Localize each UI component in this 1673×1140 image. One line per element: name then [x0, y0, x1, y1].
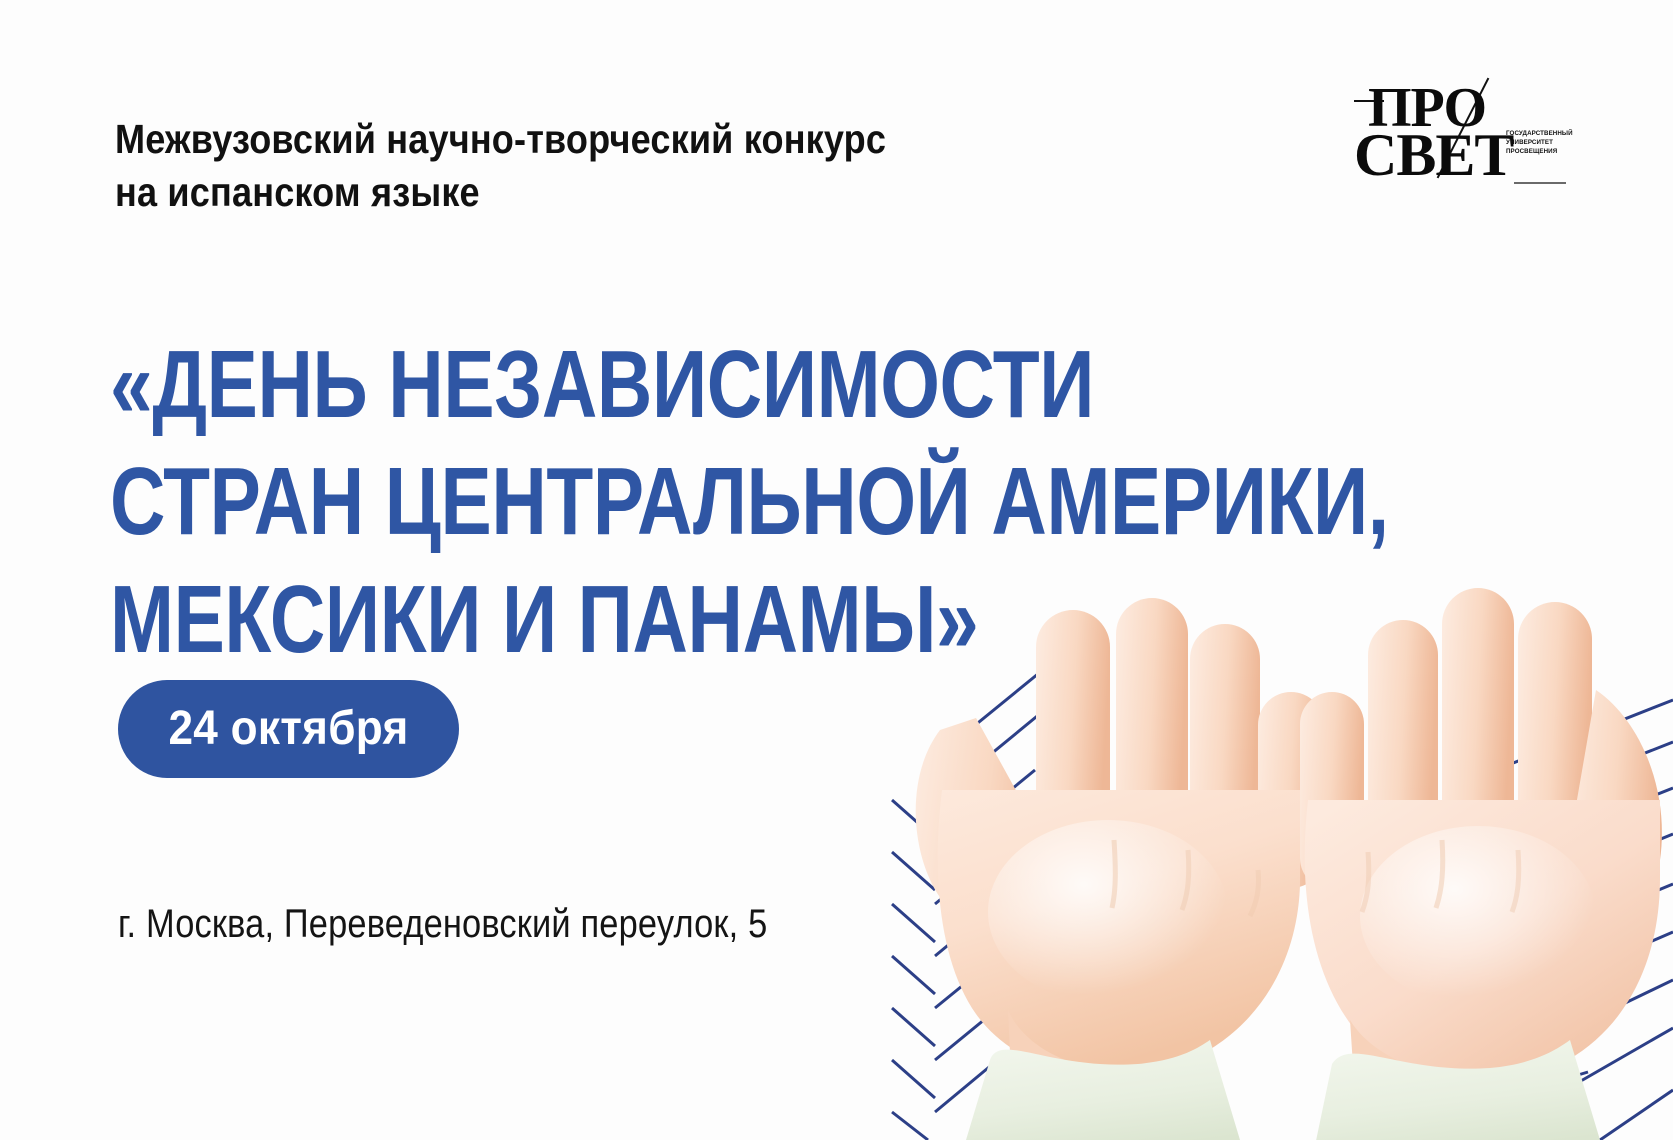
event-address: г. Москва, Переведеновский переулок, 5 — [118, 900, 767, 948]
prosvet-logo: ПРО СВЕТ Государственный университет про… — [1354, 78, 1569, 200]
logo-subtitle-line-1: Государственный — [1506, 130, 1570, 139]
logo-rule-right — [1514, 182, 1566, 184]
event-date-badge: 24 октября — [118, 680, 459, 778]
logo-line-svet: СВЕТ — [1354, 130, 1513, 182]
page-title-line-3: МЕКСИКИ И ПАНАМЫ» — [110, 561, 1246, 678]
page-title: «ДЕНЬ НЕЗАВИСИМОСТИ СТРАН ЦЕНТРАЛЬНОЙ АМ… — [110, 326, 1246, 677]
event-subtitle-line-1: Межвузовский научно-творческий конкурс — [115, 113, 995, 166]
logo-subtitle-line-3: просвещения — [1506, 148, 1570, 157]
logo-subtitle-line-2: университет — [1506, 139, 1570, 148]
page-title-line-1: «ДЕНЬ НЕЗАВИСИМОСТИ — [110, 326, 1246, 443]
page-title-line-2: СТРАН ЦЕНТРАЛЬНОЙ АМЕРИКИ, — [110, 443, 1246, 560]
logo-subtitle: Государственный университет просвещения — [1506, 130, 1570, 157]
poster-canvas: ПРО СВЕТ Государственный университет про… — [0, 0, 1673, 1140]
event-date-label: 24 октября — [168, 705, 408, 753]
event-subtitle-line-2: на испанском языке — [115, 166, 995, 219]
event-subtitle: Межвузовский научно-творческий конкурс н… — [115, 113, 995, 220]
